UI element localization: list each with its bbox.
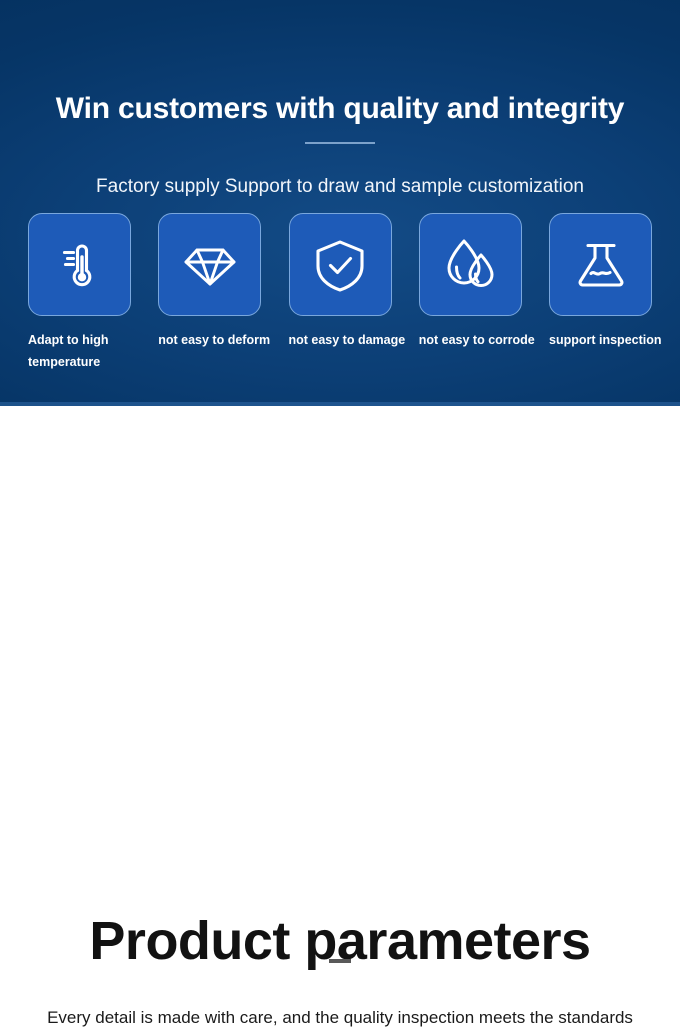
diamond-icon [181, 236, 239, 294]
feature-item-not-easy-to-damage[interactable]: not easy to damage [289, 213, 392, 374]
product-parameters-section: Product parameters Every detail is made … [0, 406, 680, 680]
feature-card[interactable] [28, 213, 131, 316]
feature-item-support-inspection[interactable]: support inspection [549, 213, 652, 374]
shield-check-icon [312, 236, 368, 294]
feature-label: not easy to deform [158, 330, 261, 352]
feature-label: not easy to corrode [419, 330, 522, 352]
feature-label: not easy to damage [289, 330, 392, 352]
hero-divider [305, 142, 375, 144]
feature-card[interactable] [158, 213, 261, 316]
hero-title: Win customers with quality and integrity [0, 94, 680, 124]
feature-label: Adapt to high temperature [28, 330, 131, 374]
feature-card[interactable] [419, 213, 522, 316]
feature-list: Adapt to high temperature not easy to de… [28, 213, 652, 374]
hero-subtitle: Factory supply Support to draw and sampl… [0, 177, 680, 196]
parameters-divider [329, 959, 351, 963]
hero-section: Win customers with quality and integrity… [0, 0, 680, 406]
flask-icon [572, 237, 630, 293]
feature-item-not-easy-to-corrode[interactable]: not easy to corrode [419, 213, 522, 374]
feature-card[interactable] [549, 213, 652, 316]
feature-label: support inspection [549, 330, 652, 352]
promo-page: Win customers with quality and integrity… [0, 0, 680, 680]
feature-item-not-easy-to-deform[interactable]: not easy to deform [158, 213, 261, 374]
parameters-subtitle: Every detail is made with care, and the … [0, 1009, 680, 1026]
feature-item-adapt-to-high-temperature[interactable]: Adapt to high temperature [28, 213, 131, 374]
thermometer-heat-icon [52, 237, 108, 293]
water-drops-icon [441, 236, 499, 294]
feature-card[interactable] [289, 213, 392, 316]
